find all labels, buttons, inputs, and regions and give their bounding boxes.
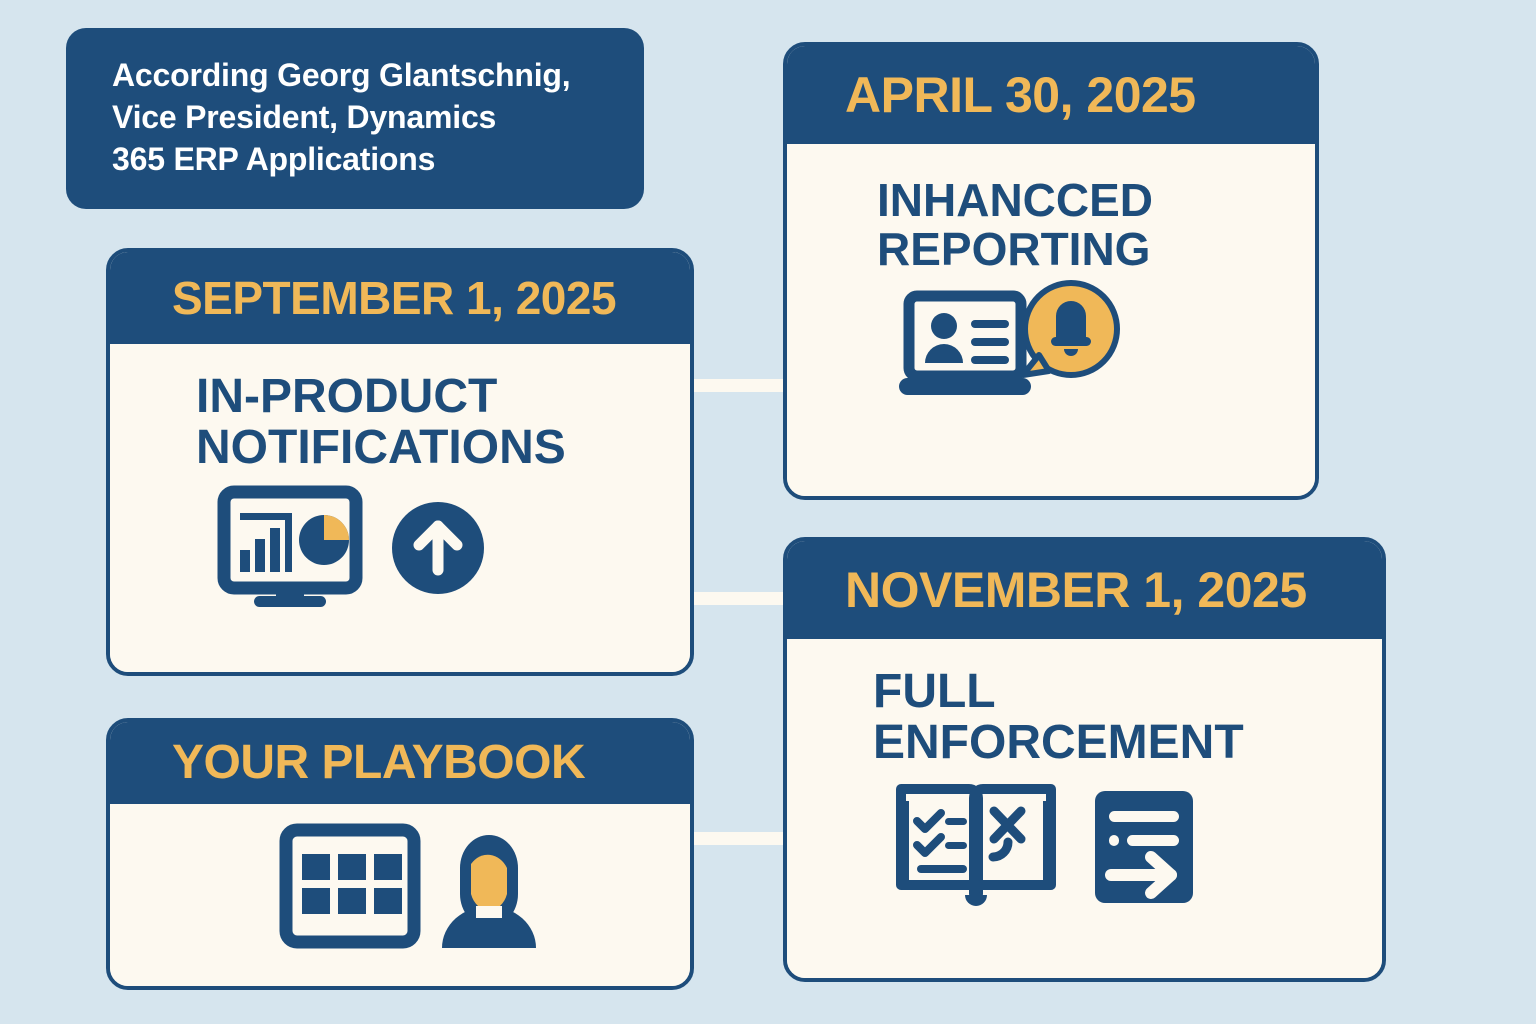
- monitor-chart-icon: [218, 488, 368, 608]
- quote-text: According Georg Glantschnig, Vice Presid…: [112, 54, 614, 181]
- card-icons-april: [787, 274, 1315, 400]
- card-header-september: SEPTEMBER 1, 2025: [110, 252, 690, 344]
- connector-september-to-april: [694, 379, 786, 392]
- card-icons-november: [787, 769, 1382, 915]
- quote-callout: According Georg Glantschnig, Vice Presid…: [66, 28, 644, 209]
- card-header-november: NOVEMBER 1, 2025: [787, 541, 1382, 639]
- card-body-april: INHANCCED REPORTING: [787, 144, 1315, 496]
- open-book-check-x-icon: [893, 783, 1059, 915]
- milestone-card-november[interactable]: NOVEMBER 1, 2025 FULL ENFORCEMENT: [783, 537, 1386, 982]
- card-icons-september: [110, 474, 690, 608]
- card-date-november: NOVEMBER 1, 2025: [845, 565, 1307, 615]
- milestone-card-september[interactable]: SEPTEMBER 1, 2025 IN-PRODUCT NOTIFICATIO…: [106, 248, 694, 676]
- card-title-april: INHANCCED REPORTING: [787, 144, 1315, 274]
- card-body-november: FULL ENFORCEMENT: [787, 639, 1382, 978]
- connector-playbook-to-november: [694, 832, 786, 845]
- card-header-april: APRIL 30, 2025: [787, 46, 1315, 144]
- card-date-september: SEPTEMBER 1, 2025: [168, 275, 616, 321]
- card-title-september: IN-PRODUCT NOTIFICATIONS: [110, 344, 690, 474]
- card-body-september: IN-PRODUCT NOTIFICATIONS: [110, 344, 690, 672]
- milestone-card-playbook[interactable]: YOUR PLAYBOOK: [106, 718, 694, 990]
- connector-september-to-november: [694, 592, 786, 605]
- infographic-canvas: According Georg Glantschnig, Vice Presid…: [0, 0, 1536, 1024]
- card-header-playbook: YOUR PLAYBOOK: [110, 722, 690, 804]
- card-icons-playbook: [110, 804, 690, 950]
- circle-up-arrow-icon: [390, 500, 486, 596]
- card-title-november: FULL ENFORCEMENT: [787, 639, 1382, 769]
- document-arrow-right-icon: [1089, 783, 1199, 915]
- grid-calendar-icon: [280, 824, 420, 948]
- person-avatar-icon: [424, 822, 554, 950]
- milestone-card-april[interactable]: APRIL 30, 2025 INHANCCED REPORTING: [783, 42, 1319, 500]
- card-label-playbook: YOUR PLAYBOOK: [168, 739, 585, 787]
- card-date-april: APRIL 30, 2025: [845, 70, 1196, 120]
- bell-notification-bubble-icon: [1009, 275, 1129, 395]
- card-body-playbook: [110, 804, 690, 986]
